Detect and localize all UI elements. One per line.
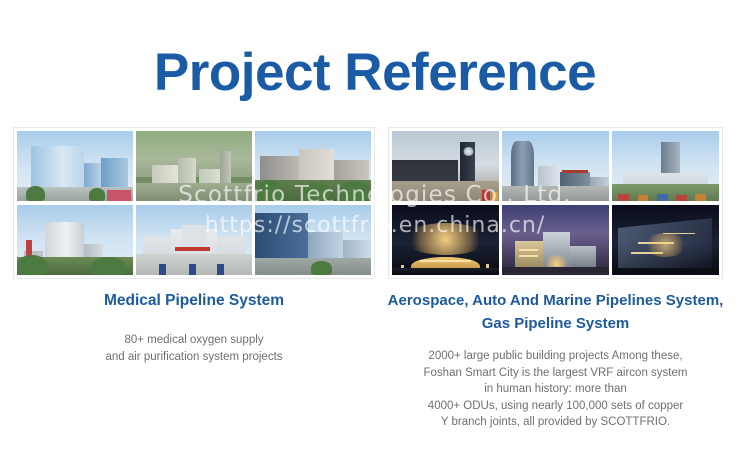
body-line: Foshan Smart City is the largest VRF air… — [424, 367, 688, 379]
body-aerospace: 2000+ large public building projects Amo… — [383, 348, 728, 431]
photo-thumbnail — [17, 205, 133, 275]
photo-thumbnail — [502, 131, 609, 201]
body-line: and air purification system projects — [105, 351, 282, 363]
body-line: in human history: more than — [484, 383, 627, 395]
body-line: 80+ medical oxygen supply — [124, 334, 263, 346]
caption-aerospace-line2: Gas Pipeline System — [383, 312, 728, 335]
photo-thumbnail — [255, 131, 371, 201]
photo-thumbnail — [502, 205, 609, 275]
photo-thumbnail — [136, 205, 252, 275]
photo-thumbnail — [17, 131, 133, 201]
photo-thumbnail — [612, 205, 719, 275]
body-line: Y branch joints, all provided by SCOTTFR… — [441, 416, 670, 428]
body-medical: 80+ medical oxygen supply and air purifi… — [8, 332, 380, 365]
caption-aerospace-line1: Aerospace, Auto And Marine Pipelines Sys… — [383, 289, 728, 312]
photo-thumbnail — [255, 205, 371, 275]
caption-medical: Medical Pipeline System — [8, 289, 380, 312]
photo-thumbnail — [392, 205, 499, 275]
photo-thumbnail — [612, 131, 719, 201]
reference-photo-groups — [0, 127, 750, 282]
page-title: Project Reference — [0, 44, 750, 102]
body-line: 2000+ large public building projects Amo… — [428, 350, 682, 362]
photo-group-medical — [13, 127, 375, 279]
photo-thumbnail — [136, 131, 252, 201]
photo-thumbnail — [392, 131, 499, 201]
body-line: 4000+ ODUs, using nearly 100,000 sets of… — [428, 400, 683, 412]
column-medical: Medical Pipeline System 80+ medical oxyg… — [8, 289, 380, 365]
column-aerospace: Aerospace, Auto And Marine Pipelines Sys… — [383, 289, 728, 431]
photo-group-aerospace — [388, 127, 723, 279]
